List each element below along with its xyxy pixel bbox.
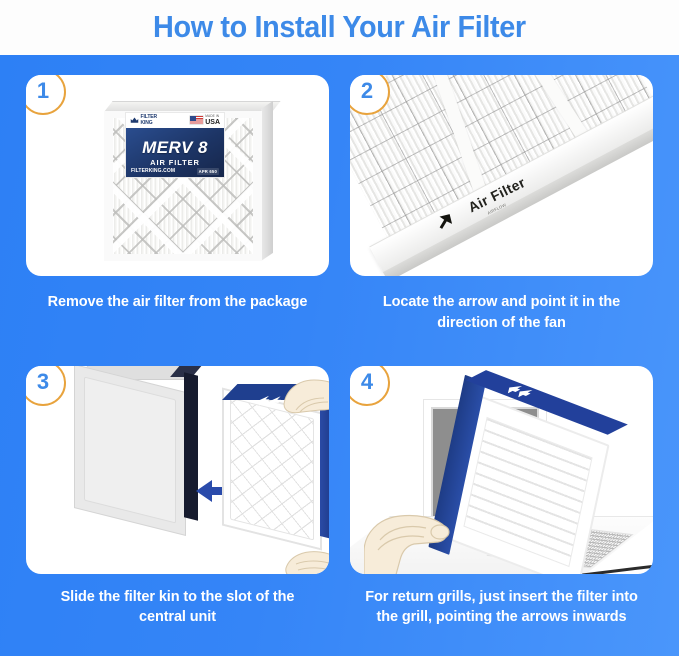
slide-filter-illustration [26, 366, 329, 574]
merv8-filter-illustration: FILTER KING MADE IN USA [26, 75, 329, 276]
infographic-root: How to Install Your Air Filter [0, 0, 679, 656]
step-number-1: 1 [37, 80, 49, 102]
step-2-image-card: Air Filter AIRFLOW 2 [350, 75, 653, 276]
website-text: FILTERKING.COM [131, 168, 175, 174]
hand-top-icon [276, 376, 329, 428]
step-caption-4: For return grills, just insert the filte… [350, 587, 653, 628]
hand-bottom-icon [284, 548, 329, 574]
product-label: FILTER KING MADE IN USA [126, 113, 224, 177]
product-label-header: FILTER KING MADE IN USA [126, 113, 224, 128]
unit-slot-inner [84, 376, 176, 523]
brand-line-2: KING [141, 121, 158, 126]
grill-louvers [463, 416, 592, 566]
made-in-usa-text: MADE IN USA [205, 115, 220, 125]
step-panel-3: 3 Slide the filter kin to the slot of th… [26, 366, 329, 651]
usa-label: USA [205, 119, 220, 126]
step-4-image-card: 4 [350, 366, 653, 574]
product-label-footer: FILTERKING.COM APR 650 [126, 165, 224, 177]
return-grill-illustration [350, 366, 653, 574]
step-3-image-card: 3 [26, 366, 329, 574]
filter-side-edge [261, 101, 273, 261]
brand-name: FILTER KING [141, 115, 158, 126]
header: How to Install Your Air Filter [0, 0, 679, 55]
step-number-4: 4 [361, 371, 373, 393]
unit-slot-body [74, 366, 186, 536]
usa-flag-icon [190, 116, 203, 124]
step-panel-4: 4 For return grills, just insert the fil… [350, 366, 653, 651]
step-caption-2: Locate the arrow and point it in the dir… [350, 292, 653, 333]
step-number-3: 3 [37, 371, 49, 393]
crown-icon [130, 116, 139, 125]
filter-corner-illustration: Air Filter AIRFLOW [350, 75, 653, 276]
step-panel-1: FILTER KING MADE IN USA [26, 75, 329, 360]
filter-king-logo: FILTER KING [130, 115, 157, 126]
step-caption-1: Remove the air filter from the package [26, 292, 329, 313]
merv-rating-text: MERV 8 [142, 139, 208, 156]
air-filter-product: FILTER KING MADE IN USA [104, 101, 272, 269]
grill-door [446, 394, 609, 574]
step-number-2: 2 [361, 80, 373, 102]
step-caption-3: Slide the filter kin to the slot of the … [26, 587, 329, 628]
product-label-body: MERV 8 AIR FILTER FILTERKING.COM APR 650 [126, 128, 224, 177]
page-title: How to Install Your Air Filter [153, 11, 526, 45]
step-1-image-card: FILTER KING MADE IN USA [26, 75, 329, 276]
filter-corner-body: Air Filter AIRFLOW [350, 75, 653, 276]
steps-grid: FILTER KING MADE IN USA [0, 55, 679, 656]
hand-inserting-icon [364, 494, 468, 574]
made-in-usa-badge: MADE IN USA [190, 115, 220, 125]
step-panel-2: Air Filter AIRFLOW 2 Locate the arrow an… [350, 75, 653, 360]
apr-rating-badge: APR 650 [197, 168, 219, 175]
